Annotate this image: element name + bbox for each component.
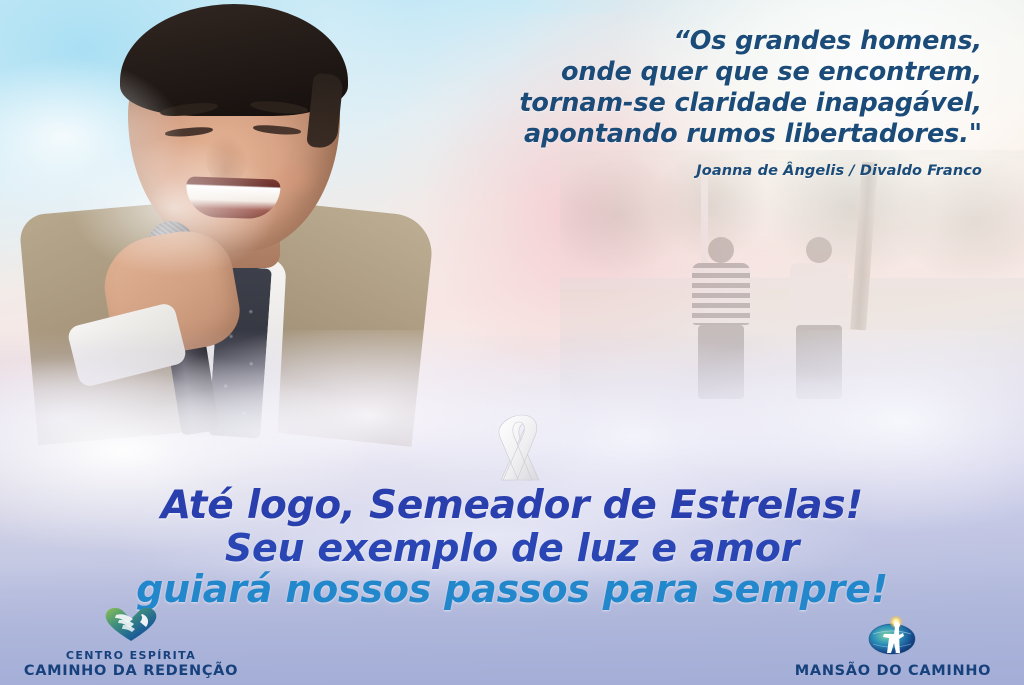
heart-hands-icon bbox=[6, 604, 256, 648]
headline-block: Até logo, Semeador de Estrelas! Seu exem… bbox=[0, 486, 1024, 610]
quote-line-3: tornam-se claridade inapagável, bbox=[422, 88, 982, 119]
quote-line-4: apontando rumos libertadores." bbox=[422, 119, 982, 150]
logo-left-line-1: CENTRO ESPÍRITA bbox=[6, 650, 256, 662]
quote-line-1: “Os grandes homens, bbox=[422, 26, 982, 57]
logo-right-line-1: MANSÃO DO CAMINHO bbox=[768, 663, 1018, 679]
awareness-ribbon-icon bbox=[487, 410, 557, 488]
cloud-layer-top-left bbox=[0, 27, 307, 301]
logo-mansao-do-caminho: MANSÃO DO CAMINHO bbox=[768, 615, 1018, 679]
logo-centro-espirita: CENTRO ESPÍRITA CAMINHO DA REDENÇÃO bbox=[6, 604, 256, 679]
person-head bbox=[708, 237, 734, 263]
quote-block: “Os grandes homens, onde quer que se enc… bbox=[422, 26, 982, 179]
quote-attribution: Joanna de Ângelis / Divaldo Franco bbox=[422, 163, 982, 179]
globe-figure-icon bbox=[768, 615, 1018, 661]
quote-line-2: onde quer que se encontrem, bbox=[422, 57, 982, 88]
logo-left-line-2: CAMINHO DA REDENÇÃO bbox=[6, 663, 256, 679]
memorial-poster: “Os grandes homens, onde quer que se enc… bbox=[0, 0, 1024, 685]
headline-line-2: Seu exemplo de luz e amor bbox=[0, 529, 1024, 569]
headline-line-1: Até logo, Semeador de Estrelas! bbox=[0, 486, 1024, 527]
person-head bbox=[806, 237, 832, 263]
